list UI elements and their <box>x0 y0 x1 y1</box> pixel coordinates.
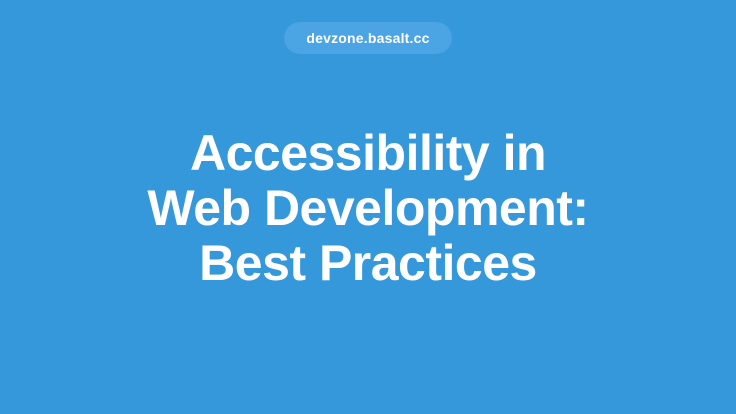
site-badge-label: devzone.basalt.cc <box>306 31 429 45</box>
site-badge: devzone.basalt.cc <box>284 22 451 54</box>
headline-container: Accessibility in Web Development: Best P… <box>0 54 736 414</box>
page-title: Accessibility in Web Development: Best P… <box>145 126 591 291</box>
share-card: devzone.basalt.cc Accessibility in Web D… <box>0 0 736 414</box>
